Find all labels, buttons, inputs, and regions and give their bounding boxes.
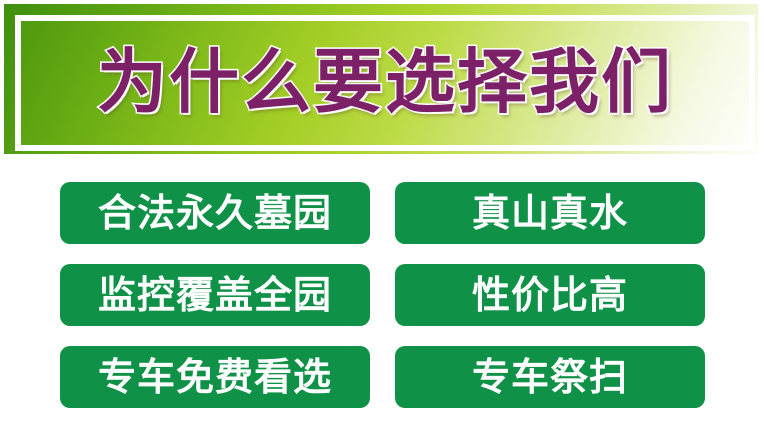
feature-label: 专车祭扫 (472, 358, 628, 396)
feature-surveillance-full-coverage[interactable]: 监控覆盖全园 (60, 264, 370, 326)
feature-button-grid: 合法永久墓园 真山真水 监控覆盖全园 性价比高 专车免费看选 专车祭扫 (60, 182, 705, 408)
feature-free-shuttle-viewing[interactable]: 专车免费看选 (60, 346, 370, 408)
feature-label: 合法永久墓园 (98, 194, 332, 232)
header-banner-frame: 为什么要选择我们 (4, 4, 758, 154)
page-title: 为什么要选择我们 (97, 47, 673, 117)
feature-label: 监控覆盖全园 (98, 276, 332, 314)
feature-label: 性价比高 (472, 276, 628, 314)
feature-real-mountain-real-water[interactable]: 真山真水 (395, 182, 705, 244)
feature-high-value-for-money[interactable]: 性价比高 (395, 264, 705, 326)
feature-label: 专车免费看选 (98, 358, 332, 396)
feature-label: 真山真水 (472, 194, 628, 232)
header-banner-white-inset: 为什么要选择我们 (15, 15, 755, 151)
header-banner-panel: 为什么要选择我们 (21, 21, 749, 145)
feature-legal-permanent-cemetery[interactable]: 合法永久墓园 (60, 182, 370, 244)
promo-panel: 为什么要选择我们 合法永久墓园 真山真水 监控覆盖全园 性价比高 专车免费看选 … (0, 0, 764, 426)
feature-shuttle-for-tomb-sweeping[interactable]: 专车祭扫 (395, 346, 705, 408)
